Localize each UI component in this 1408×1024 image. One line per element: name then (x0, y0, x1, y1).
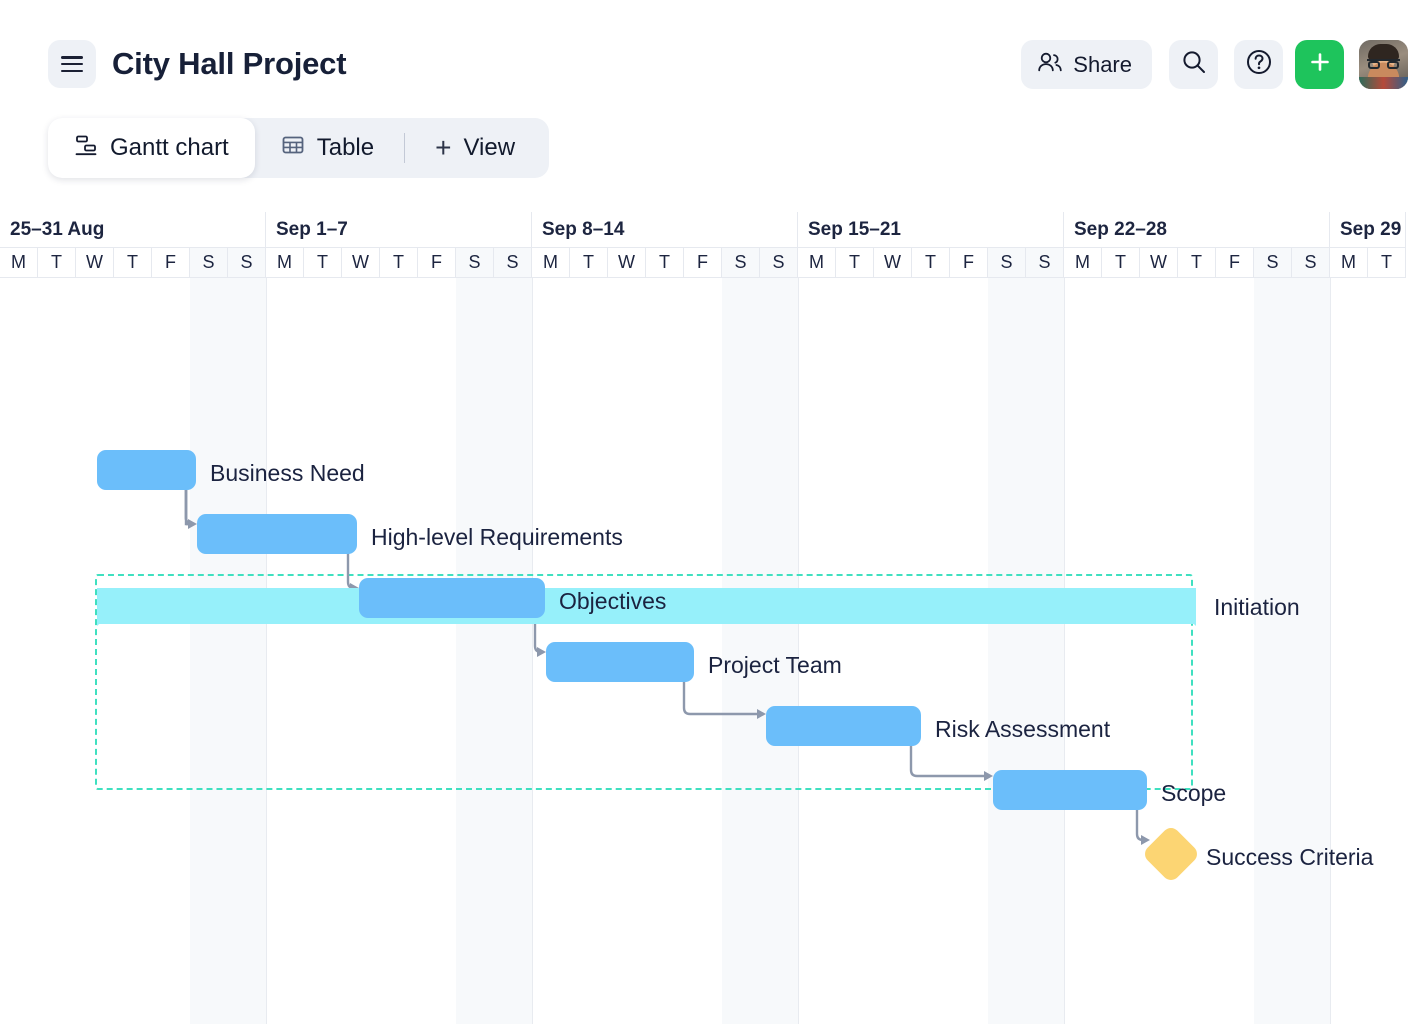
timeline-day-cell: T (836, 248, 874, 278)
timeline-day-cell: S (1254, 248, 1292, 278)
share-label: Share (1073, 52, 1132, 78)
timeline-day-cell: T (1178, 248, 1216, 278)
avatar-glasses (1367, 59, 1400, 67)
timeline-day-cell: M (0, 248, 38, 278)
timeline-day-cell: T (646, 248, 684, 278)
tab-gantt-chart[interactable]: Gantt chart (48, 118, 255, 178)
gantt-icon (74, 133, 98, 164)
timeline-week-label: Sep 22–28 (1064, 212, 1330, 248)
timeline-day-cell: T (380, 248, 418, 278)
avatar[interactable] (1359, 40, 1408, 89)
task-label: Success Criteria (1206, 846, 1373, 869)
timeline-day-cell: T (114, 248, 152, 278)
search-icon (1181, 49, 1207, 80)
task-label: Project Team (708, 654, 842, 677)
tab-table[interactable]: Table (255, 118, 400, 178)
timeline-week-label: Sep 1–7 (266, 212, 532, 248)
view-tabs: Gantt chart Table + View (48, 118, 549, 178)
share-button[interactable]: Share (1021, 40, 1152, 89)
timeline-day-cell: T (570, 248, 608, 278)
task-bar[interactable] (546, 642, 694, 682)
task-label: Business Need (210, 462, 365, 485)
timeline-week-label: Sep 8–14 (532, 212, 798, 248)
timeline-day-cell: T (38, 248, 76, 278)
timeline-day-cell: M (1330, 248, 1368, 278)
timeline-day-cell: S (1292, 248, 1330, 278)
timeline-day-cell: W (342, 248, 380, 278)
timeline-day-cell: T (304, 248, 342, 278)
timeline-day-cell: W (874, 248, 912, 278)
avatar-hair (1368, 44, 1399, 60)
plus-icon (1308, 50, 1332, 79)
timeline-day-cell: F (950, 248, 988, 278)
timeline-day-cell: W (76, 248, 114, 278)
gantt-chart-body: Initiation Business NeedHigh-level Requi… (0, 278, 1408, 1024)
timeline-day-cell: M (532, 248, 570, 278)
timeline-day-cell: F (418, 248, 456, 278)
search-button[interactable] (1169, 40, 1218, 89)
people-icon (1037, 51, 1063, 78)
timeline-day-cell: S (456, 248, 494, 278)
timeline-week-label: Sep 29 (1330, 212, 1406, 248)
task-bar[interactable] (766, 706, 921, 746)
task-label: Scope (1161, 782, 1226, 805)
timeline-day-cell: S (190, 248, 228, 278)
app-header: City Hall Project Share (0, 0, 1408, 108)
table-icon (281, 133, 305, 164)
gantt-app: City Hall Project Share (0, 0, 1408, 1024)
task-bar[interactable] (197, 514, 357, 554)
timeline-day-cell: S (722, 248, 760, 278)
timeline-day-cell: M (266, 248, 304, 278)
add-view-button[interactable]: + View (409, 118, 541, 178)
add-view-label: View (463, 134, 515, 162)
timeline-day-cell: T (1102, 248, 1140, 278)
question-circle-icon (1245, 48, 1273, 81)
timeline-day-cell: T (912, 248, 950, 278)
gantt-timeline: 25–31 AugSep 1–7Sep 8–14Sep 15–21Sep 22–… (0, 212, 1408, 1024)
timeline-week-label: Sep 15–21 (798, 212, 1064, 248)
timeline-day-header: MTWTFSSMTWTFSSMTWTFSSMTWTFSSMTWTFSSMT (0, 248, 1408, 278)
summary-bar-label: Initiation (1214, 596, 1300, 619)
tab-gantt-chart-label: Gantt chart (110, 134, 229, 162)
help-button[interactable] (1234, 40, 1283, 89)
task-label: High-level Requirements (371, 526, 623, 549)
add-button[interactable] (1295, 40, 1344, 89)
timeline-week-label: 25–31 Aug (0, 212, 266, 248)
task-label: Risk Assessment (935, 718, 1110, 741)
timeline-day-cell: F (684, 248, 722, 278)
timeline-day-cell: W (1140, 248, 1178, 278)
tab-table-label: Table (317, 134, 374, 162)
timeline-day-cell: M (798, 248, 836, 278)
timeline-day-cell: M (1064, 248, 1102, 278)
timeline-day-cell: W (608, 248, 646, 278)
timeline-day-cell: F (1216, 248, 1254, 278)
page-title: City Hall Project (112, 40, 346, 88)
timeline-day-cell: S (760, 248, 798, 278)
timeline-day-cell: F (152, 248, 190, 278)
hamburger-icon (61, 56, 83, 72)
timeline-day-cell: S (228, 248, 266, 278)
task-label: Objectives (559, 590, 666, 613)
tab-divider (404, 133, 405, 163)
plus-icon: + (435, 134, 451, 162)
timeline-day-cell: T (1368, 248, 1406, 278)
timeline-week-header: 25–31 AugSep 1–7Sep 8–14Sep 15–21Sep 22–… (0, 212, 1408, 248)
timeline-day-cell: S (1026, 248, 1064, 278)
timeline-day-cell: S (988, 248, 1026, 278)
task-bar[interactable] (359, 578, 545, 618)
timeline-day-cell: S (494, 248, 532, 278)
menu-button[interactable] (48, 40, 96, 88)
task-bar[interactable] (97, 450, 196, 490)
avatar-shirt (1359, 77, 1408, 89)
dependency-links (0, 278, 1408, 1024)
task-bar[interactable] (993, 770, 1147, 810)
